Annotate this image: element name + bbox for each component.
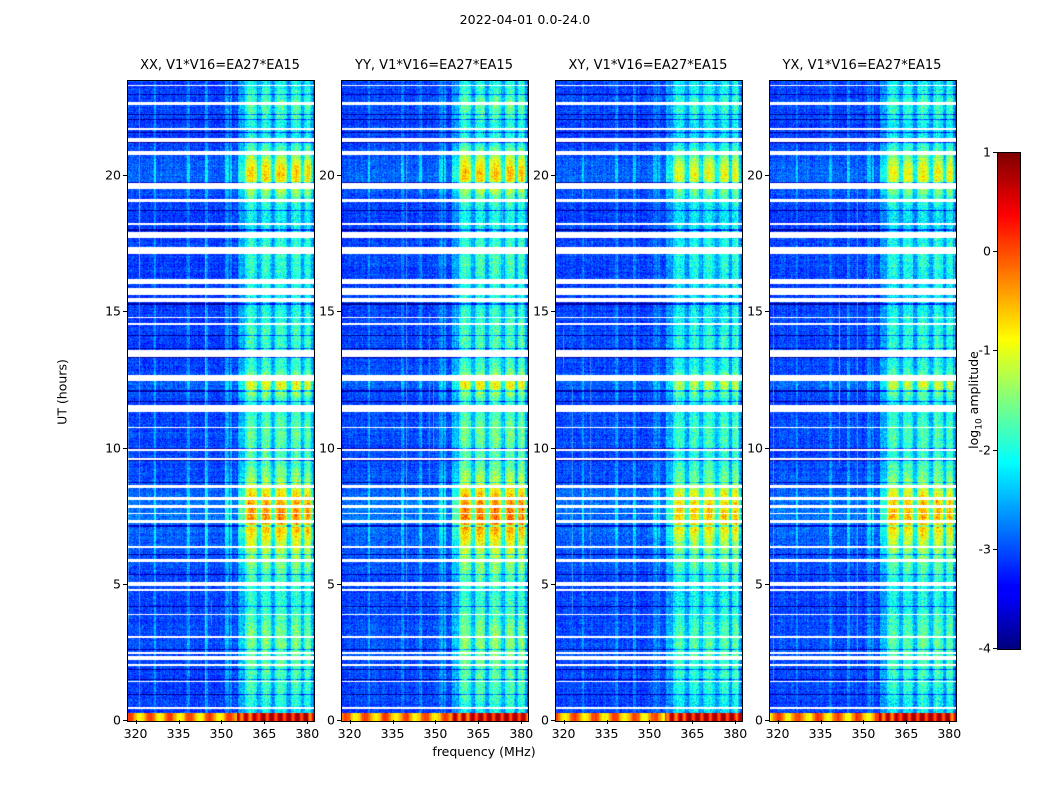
x-tick-mark [136, 720, 137, 724]
y-tick-mark [551, 175, 555, 176]
y-tick-label: 5 [755, 576, 763, 591]
x-tick-mark [521, 720, 522, 724]
panel-xx: XX, V1*V16=EA27*EA15 3203353503653800510… [127, 80, 313, 720]
x-tick-label: 335 [595, 726, 619, 741]
x-tick-label: 365 [680, 726, 704, 741]
y-tick-label: 0 [327, 713, 335, 728]
y-tick-mark [765, 175, 769, 176]
x-tick-label: 350 [851, 726, 875, 741]
x-tick-mark [778, 720, 779, 724]
colorbar: 10-1-2-3-4 [997, 152, 1019, 648]
y-tick-label: 20 [319, 168, 335, 183]
panel-xx-title: XX, V1*V16=EA27*EA15 [140, 58, 300, 73]
x-tick-label: 320 [124, 726, 148, 741]
x-tick-mark [906, 720, 907, 724]
y-tick-label: 15 [747, 304, 763, 319]
colorbar-tick-mark [993, 648, 997, 649]
x-tick-label: 380 [509, 726, 533, 741]
colorbar-tick-mark [993, 350, 997, 351]
x-tick-label: 380 [723, 726, 747, 741]
colorbar-gradient [997, 152, 1021, 650]
y-tick-label: 10 [319, 440, 335, 455]
y-tick-label: 15 [105, 304, 121, 319]
y-tick-label: 5 [327, 576, 335, 591]
colorbar-tick-mark [993, 549, 997, 550]
colorbar-tick-label: -4 [979, 641, 991, 656]
y-tick-label: 20 [533, 168, 549, 183]
y-tick-mark [123, 175, 127, 176]
x-tick-mark [179, 720, 180, 724]
y-tick-mark [123, 720, 127, 721]
x-tick-label: 380 [295, 726, 319, 741]
colorbar-tick-mark [993, 450, 997, 451]
colorbar-label: log10 amplitude [966, 351, 985, 449]
y-tick-mark [337, 311, 341, 312]
y-tick-label: 10 [747, 440, 763, 455]
x-tick-label: 365 [894, 726, 918, 741]
x-tick-label: 335 [381, 726, 405, 741]
colorbar-label-suffix: amplitude [966, 351, 981, 418]
x-tick-mark [564, 720, 565, 724]
y-tick-label: 10 [105, 440, 121, 455]
x-tick-label: 320 [552, 726, 576, 741]
x-tick-label: 320 [338, 726, 362, 741]
y-tick-label: 5 [541, 576, 549, 591]
x-tick-label: 350 [423, 726, 447, 741]
x-axis-label: frequency (MHz) [432, 744, 535, 759]
waterfall-xy [555, 80, 743, 722]
y-tick-mark [551, 584, 555, 585]
x-tick-label: 365 [466, 726, 490, 741]
y-tick-mark [765, 720, 769, 721]
x-tick-mark [393, 720, 394, 724]
x-tick-mark [821, 720, 822, 724]
colorbar-tick-label: -3 [979, 541, 991, 556]
x-tick-mark [692, 720, 693, 724]
x-tick-mark [350, 720, 351, 724]
x-tick-mark [607, 720, 608, 724]
waterfall-yx [769, 80, 957, 722]
y-tick-mark [551, 720, 555, 721]
x-tick-mark [649, 720, 650, 724]
x-tick-mark [435, 720, 436, 724]
y-tick-mark [337, 175, 341, 176]
y-tick-mark [551, 311, 555, 312]
y-tick-mark [337, 720, 341, 721]
colorbar-label-prefix: log [966, 430, 981, 449]
y-tick-mark [123, 448, 127, 449]
y-tick-mark [765, 584, 769, 585]
x-tick-mark [307, 720, 308, 724]
y-tick-label: 20 [747, 168, 763, 183]
x-tick-mark [949, 720, 950, 724]
panel-xy: XY, V1*V16=EA27*EA15 3203353503653800510… [555, 80, 741, 720]
x-tick-label: 350 [209, 726, 233, 741]
x-tick-label: 335 [809, 726, 833, 741]
waterfall-xx [127, 80, 315, 722]
colorbar-tick-label: 1 [983, 145, 991, 160]
panel-yy-title: YY, V1*V16=EA27*EA15 [355, 58, 513, 73]
y-tick-label: 0 [755, 713, 763, 728]
y-tick-mark [551, 448, 555, 449]
y-tick-label: 0 [541, 713, 549, 728]
waterfall-yy [341, 80, 529, 722]
y-tick-label: 0 [113, 713, 121, 728]
x-tick-mark [478, 720, 479, 724]
y-tick-mark [123, 311, 127, 312]
colorbar-tick-mark [993, 251, 997, 252]
y-tick-mark [337, 448, 341, 449]
y-tick-mark [765, 448, 769, 449]
colorbar-tick-label: 0 [983, 244, 991, 259]
x-tick-mark [221, 720, 222, 724]
y-tick-label: 15 [533, 304, 549, 319]
x-tick-mark [264, 720, 265, 724]
y-tick-label: 10 [533, 440, 549, 455]
x-tick-label: 335 [167, 726, 191, 741]
y-tick-label: 5 [113, 576, 121, 591]
x-tick-label: 350 [637, 726, 661, 741]
figure-suptitle: 2022-04-01 0.0-24.0 [0, 12, 1050, 27]
x-tick-label: 320 [766, 726, 790, 741]
y-tick-label: 15 [319, 304, 335, 319]
x-tick-label: 380 [937, 726, 961, 741]
panel-yx-title: YX, V1*V16=EA27*EA15 [783, 58, 942, 73]
x-tick-mark [735, 720, 736, 724]
x-tick-mark [863, 720, 864, 724]
x-tick-label: 365 [252, 726, 276, 741]
colorbar-tick-mark [993, 152, 997, 153]
y-axis-label: UT (hours) [55, 359, 70, 425]
y-tick-mark [765, 311, 769, 312]
colorbar-label-subscript: 10 [974, 418, 984, 429]
y-tick-mark [123, 584, 127, 585]
y-tick-label: 20 [105, 168, 121, 183]
panel-yy: YY, V1*V16=EA27*EA15 3203353503653800510… [341, 80, 527, 720]
y-tick-mark [337, 584, 341, 585]
figure-canvas: 2022-04-01 0.0-24.0 XX, V1*V16=EA27*EA15… [0, 0, 1050, 800]
panel-xy-title: XY, V1*V16=EA27*EA15 [569, 58, 728, 73]
panel-yx: YX, V1*V16=EA27*EA15 3203353503653800510… [769, 80, 955, 720]
